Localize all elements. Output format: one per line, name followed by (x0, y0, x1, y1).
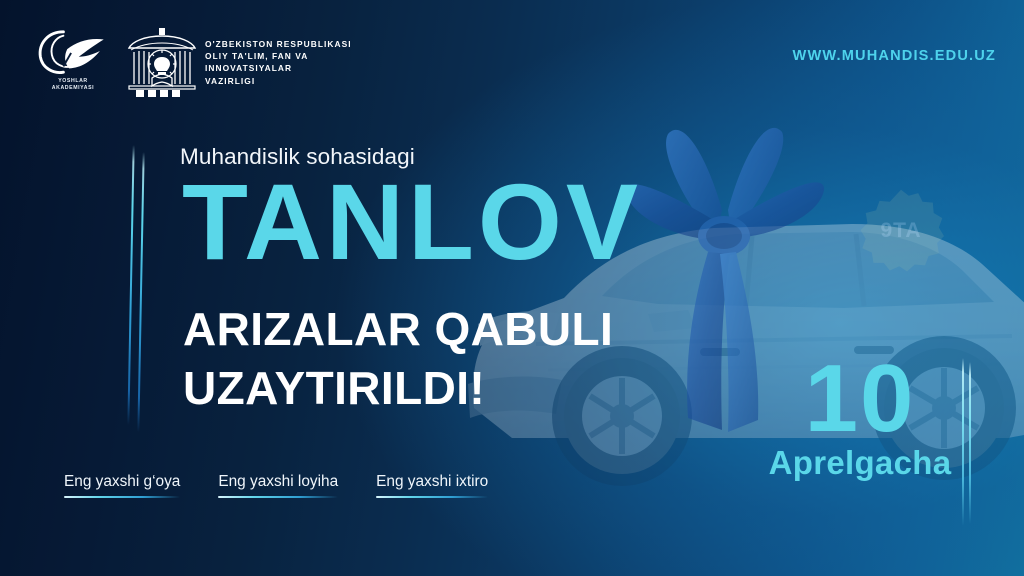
subline-uzaytirildi: UZAYTIRILDI! (183, 362, 485, 414)
deadline-day: 10 (762, 352, 958, 446)
yoshlar-akademiyasi-logo: YOSHLAR AKADEMIYASI (34, 28, 112, 100)
9ta-badge: 9TA (858, 188, 944, 274)
website-url-link[interactable]: WWW.MUHANDIS.EDU.UZ (793, 48, 996, 64)
subline-arizalar-qabuli: ARIZALAR QABULI (183, 303, 613, 355)
promo-poster: 9TA YOSHLAR AKADEMIYASI (0, 0, 1024, 576)
nomination-item-goya[interactable]: Eng yaxshi g‘oya (64, 473, 180, 498)
ministry-name-text: O'ZBEKISTON RESPUBLIKASI OLIY TA'LIM, FA… (205, 38, 352, 87)
deadline-block: 10 Aprelgacha (762, 352, 958, 482)
poster-header: YOSHLAR AKADEMIYASI (0, 0, 1024, 112)
nominations-list: Eng yaxshi g‘oya Eng yaxshi loyiha Eng y… (64, 473, 488, 498)
accent-line-left-2 (137, 152, 144, 432)
dove-bird-icon (34, 28, 112, 76)
youth-logo-caption: YOSHLAR AKADEMIYASI (34, 78, 112, 92)
ministry-emblem-icon (124, 26, 200, 100)
nomination-item-ixtiro[interactable]: Eng yaxshi ixtiro (376, 473, 488, 498)
deadline-month: Aprelgacha (762, 444, 958, 482)
accent-line-right-2 (969, 362, 971, 524)
accent-line-left-1 (127, 145, 134, 425)
accent-line-right-1 (962, 358, 964, 526)
badge-label: 9TA (858, 188, 944, 274)
headline-tanlov: TANLOV (182, 168, 642, 276)
ministry-emblem-logo (124, 26, 200, 100)
nomination-item-loyiha[interactable]: Eng yaxshi loyiha (218, 473, 338, 498)
